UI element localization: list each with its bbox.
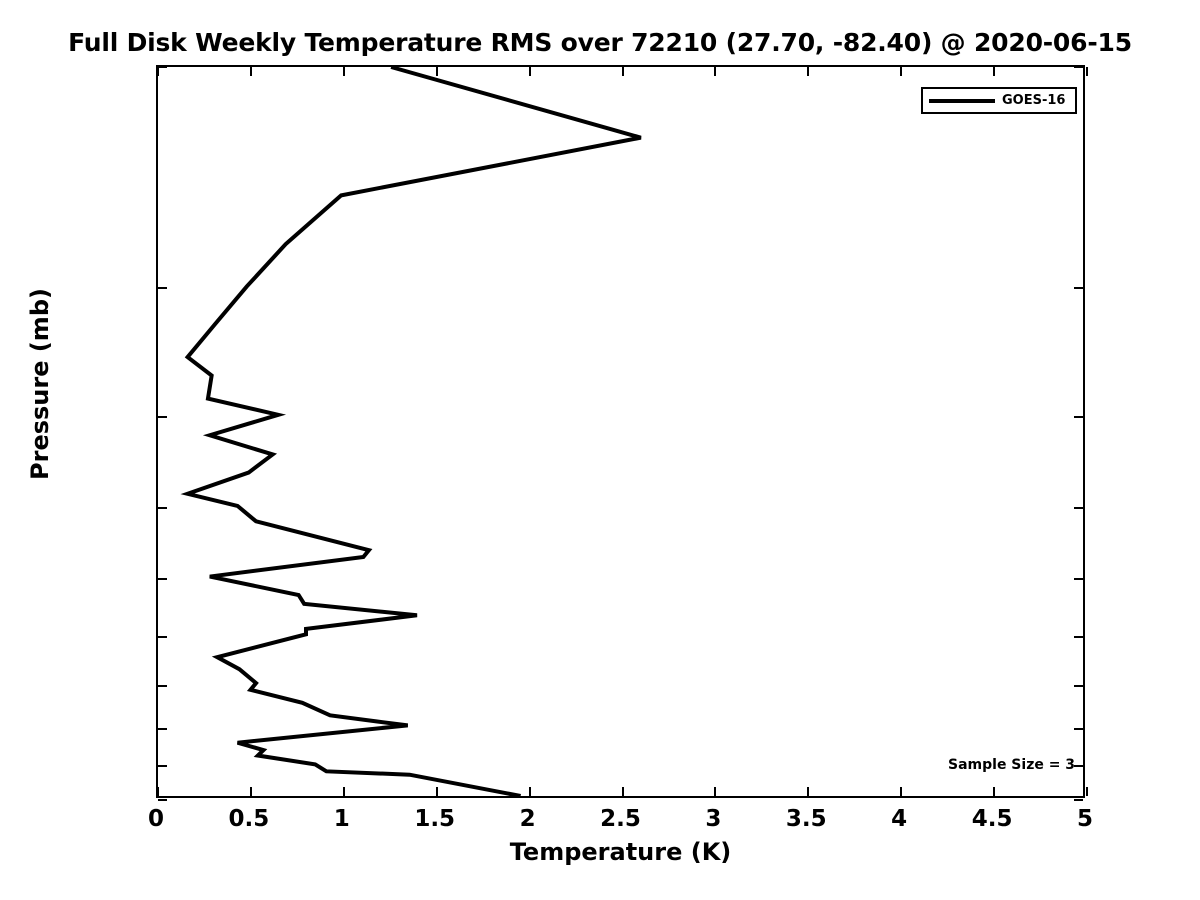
x-tick-label-3.5: 3.5 [786, 806, 827, 832]
y-axis-title: Pressure (mb) [26, 284, 54, 484]
legend-item-label: GOES-16 [1002, 93, 1065, 108]
x-tick-label-2: 2 [520, 806, 536, 832]
x-tick-label-0.5: 0.5 [229, 806, 270, 832]
x-tick-label-4.5: 4.5 [972, 806, 1013, 832]
x-tick-label-5: 5 [1077, 806, 1093, 832]
x-tick-label-4: 4 [891, 806, 907, 832]
x-tick-label-0: 0 [148, 806, 164, 832]
x-tick-label-3: 3 [705, 806, 721, 832]
x-tick-label-1.5: 1.5 [414, 806, 455, 832]
x-tick-label-2.5: 2.5 [600, 806, 641, 832]
sample-size-annotation: Sample Size = 3 [948, 757, 1075, 773]
legend-line-swatch [929, 99, 995, 103]
legend-box: GOES-16 [921, 87, 1077, 114]
y-tick-labels: 1002003004005006007008009001000 [0, 65, 1200, 798]
x-axis-title: Temperature (K) [156, 838, 1085, 866]
y-tick-right-1000 [1074, 799, 1083, 801]
x-tick-label-1: 1 [334, 806, 350, 832]
page-title: Full Disk Weekly Temperature RMS over 72… [0, 28, 1200, 57]
chart-figure: Full Disk Weekly Temperature RMS over 72… [0, 0, 1200, 900]
y-tick-1000 [158, 799, 167, 801]
